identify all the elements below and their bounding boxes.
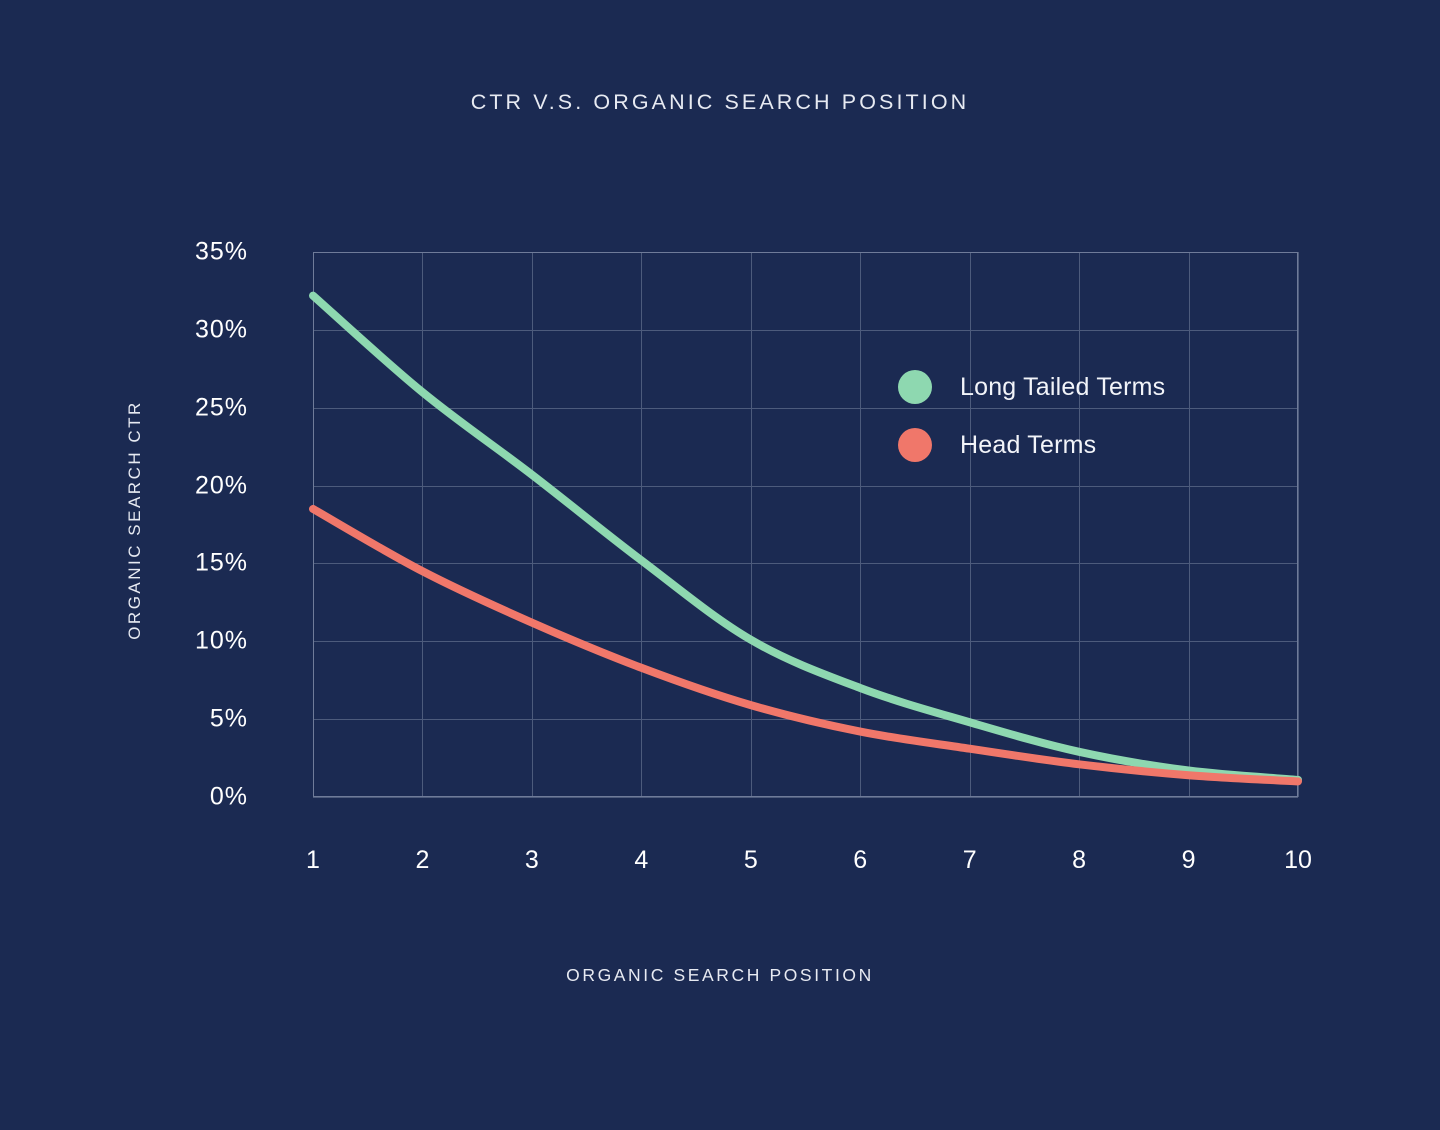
x-tick-label: 7	[963, 846, 977, 875]
gridline-horizontal	[313, 797, 1298, 798]
legend-swatch-circle-icon	[898, 428, 932, 462]
x-tick-label: 3	[525, 846, 539, 875]
legend-item-label: Head Terms	[960, 431, 1096, 460]
x-tick-label: 1	[306, 846, 320, 875]
x-tick-label: 8	[1072, 846, 1086, 875]
y-axis-title-label: ORGANIC SEARCH CTR	[125, 400, 145, 640]
gridline-vertical	[1298, 252, 1299, 797]
chart-title: CTR V.S. ORGANIC SEARCH POSITION	[0, 90, 1440, 115]
series-line	[313, 509, 1298, 782]
y-tick-label: 5%	[210, 705, 248, 734]
y-tick-label: 20%	[195, 471, 248, 500]
y-tick-label: 10%	[195, 627, 248, 656]
x-tick-label: 5	[744, 846, 758, 875]
x-axis-title: ORGANIC SEARCH POSITION	[0, 965, 1440, 986]
x-tick-label: 4	[634, 846, 648, 875]
legend-item[interactable]: Long Tailed Terms	[898, 358, 1228, 416]
y-tick-label: 25%	[195, 393, 248, 422]
series-lines	[313, 252, 1298, 797]
y-tick-label: 35%	[195, 238, 248, 267]
x-tick-label: 10	[1284, 846, 1312, 875]
y-axis-title: ORGANIC SEARCH CTR	[107, 340, 163, 700]
y-tick-label: 30%	[195, 315, 248, 344]
x-tick-label: 6	[853, 846, 867, 875]
legend-item[interactable]: Head Terms	[898, 416, 1228, 474]
x-tick-label: 2	[415, 846, 429, 875]
legend-item-label: Long Tailed Terms	[960, 373, 1165, 402]
chart-legend: Long Tailed TermsHead Terms	[898, 358, 1228, 474]
plot-area	[313, 252, 1298, 797]
y-tick-label: 15%	[195, 549, 248, 578]
x-tick-label: 9	[1182, 846, 1196, 875]
ctr-vs-position-chart: CTR V.S. ORGANIC SEARCH POSITION ORGANIC…	[0, 0, 1440, 1130]
legend-swatch-circle-icon	[898, 370, 932, 404]
y-tick-label: 0%	[210, 783, 248, 812]
